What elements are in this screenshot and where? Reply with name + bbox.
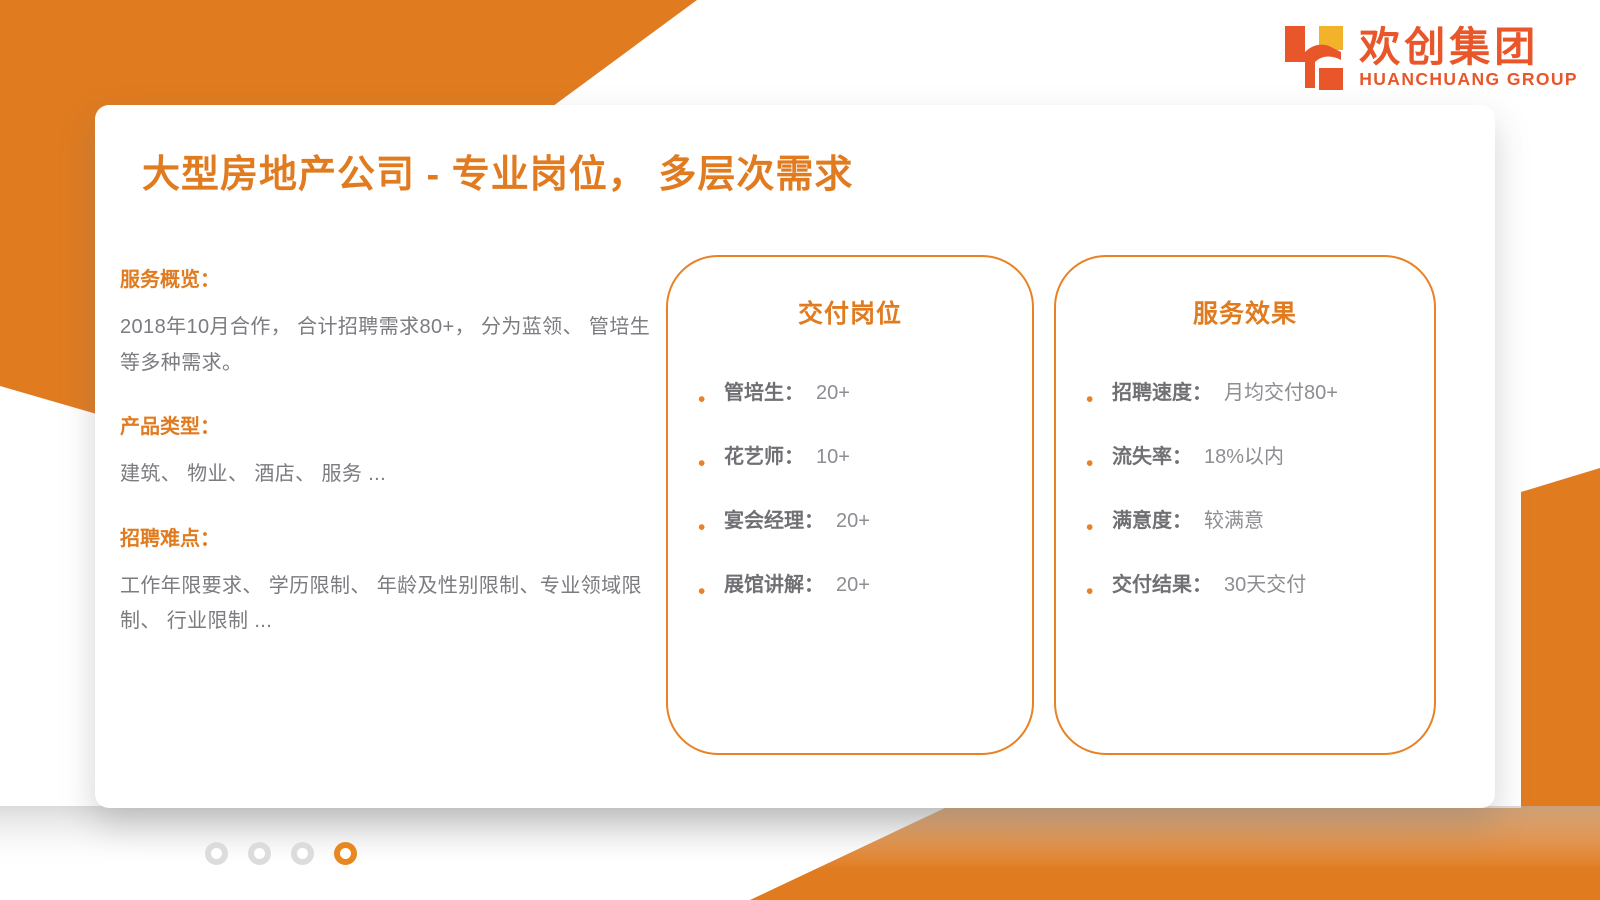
info-block-recruiting-difficulty: 招聘难点： 工作年限要求、 学历限制、 年龄及性别限制、专业领域限制、 行业限制… [120, 527, 665, 640]
item-value: 月均交付80+ [1224, 382, 1338, 405]
panel-title: 服务效果 [1056, 294, 1434, 330]
item-label: 满意度： [1112, 510, 1192, 533]
item-value: 20+ [816, 382, 850, 405]
page-title: 大型房地产公司 - 专业岗位， 多层次需求 [142, 143, 853, 198]
bullet-icon: • [698, 446, 724, 474]
panel-item-list: • 管培生： 20+ • 花艺师： 10+ • 宴会经理： 20+ • 展馆讲解… [668, 382, 1032, 602]
list-item: • 交付结果： 30天交付 [1086, 574, 1434, 602]
item-label: 招聘速度： [1112, 382, 1212, 405]
panel-service-results: 服务效果 • 招聘速度： 月均交付80+ • 流失率： 18%以内 • 满意度：… [1054, 255, 1436, 755]
list-item: • 展馆讲解： 20+ [698, 574, 1032, 602]
item-label: 展馆讲解： [724, 574, 824, 597]
item-label: 交付结果： [1112, 574, 1212, 597]
item-value: 20+ [836, 574, 870, 597]
list-item: • 满意度： 较满意 [1086, 510, 1434, 538]
logo-mark-icon [1283, 24, 1345, 92]
pagination-dot-1[interactable] [205, 842, 228, 865]
info-body: 建筑、 物业、 酒店、 服务 ... [120, 457, 665, 493]
bullet-icon: • [698, 510, 724, 538]
item-label: 花艺师： [724, 446, 804, 469]
info-body: 2018年10月合作， 合计招聘需求80+， 分为蓝领、 管培生等多种需求。 [120, 310, 665, 381]
item-label: 管培生： [724, 382, 804, 405]
pagination-dots[interactable] [205, 842, 357, 865]
bullet-icon: • [1086, 574, 1112, 602]
info-block-product-type: 产品类型： 建筑、 物业、 酒店、 服务 ... [120, 415, 665, 493]
logo-english-name: HUANCHUANG GROUP [1359, 71, 1578, 89]
logo-chinese-name: 欢创集团 [1359, 27, 1539, 68]
pagination-dot-4[interactable] [334, 842, 357, 865]
bullet-icon: • [1086, 510, 1112, 538]
list-item: • 管培生： 20+ [698, 382, 1032, 410]
bullet-icon: • [1086, 446, 1112, 474]
info-heading: 产品类型： [120, 415, 665, 439]
bullet-icon: • [1086, 382, 1112, 410]
list-item: • 招聘速度： 月均交付80+ [1086, 382, 1434, 410]
item-label: 流失率： [1112, 446, 1192, 469]
item-value: 10+ [816, 446, 850, 469]
item-value: 18%以内 [1204, 446, 1284, 469]
panel-item-list: • 招聘速度： 月均交付80+ • 流失率： 18%以内 • 满意度： 较满意 … [1056, 382, 1434, 602]
panel-title: 交付岗位 [668, 294, 1032, 330]
bullet-icon: • [698, 574, 724, 602]
item-value: 30天交付 [1224, 574, 1306, 597]
company-logo: 欢创集团 HUANCHUANG GROUP [1283, 24, 1578, 92]
list-item: • 流失率： 18%以内 [1086, 446, 1434, 474]
left-info-column: 服务概览： 2018年10月合作， 合计招聘需求80+， 分为蓝领、 管培生等多… [120, 268, 665, 640]
item-value: 20+ [836, 510, 870, 533]
info-heading: 招聘难点： [120, 527, 665, 551]
info-heading: 服务概览： [120, 268, 665, 292]
pagination-dot-2[interactable] [248, 842, 271, 865]
item-value: 较满意 [1204, 510, 1264, 533]
pagination-dot-3[interactable] [291, 842, 314, 865]
panel-delivered-positions: 交付岗位 • 管培生： 20+ • 花艺师： 10+ • 宴会经理： 20+ •… [666, 255, 1034, 755]
list-item: • 花艺师： 10+ [698, 446, 1032, 474]
info-block-service-overview: 服务概览： 2018年10月合作， 合计招聘需求80+， 分为蓝领、 管培生等多… [120, 268, 665, 381]
info-body: 工作年限要求、 学历限制、 年龄及性别限制、专业领域限制、 行业限制 ... [120, 569, 665, 640]
item-label: 宴会经理： [724, 510, 824, 533]
list-item: • 宴会经理： 20+ [698, 510, 1032, 538]
bullet-icon: • [698, 382, 724, 410]
